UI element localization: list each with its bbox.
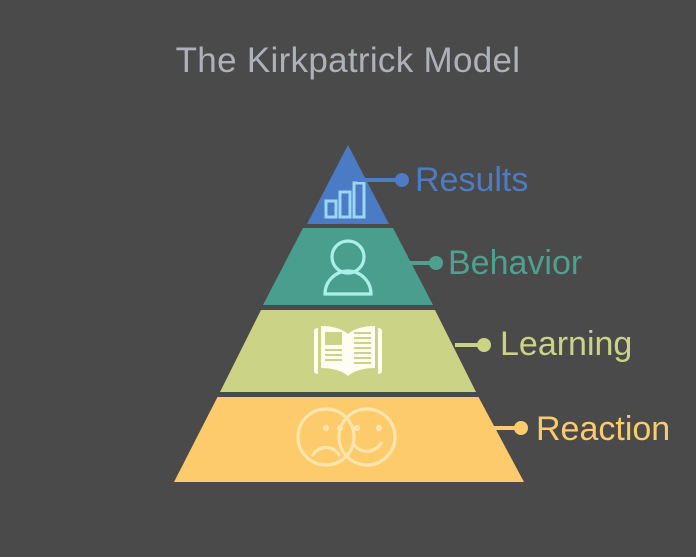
tier-shape-reaction [174, 397, 524, 482]
tier-label-learning[interactable]: Learning [500, 327, 632, 361]
pyramid-tier-behavior[interactable] [263, 228, 443, 305]
kirkpatrick-model-infographic: The Kirkpatrick Model [0, 0, 696, 557]
pyramid-tier-results[interactable] [307, 145, 409, 224]
pyramid-tier-learning[interactable] [220, 310, 491, 392]
tier-shape-results [307, 145, 389, 224]
pyramid-tier-reaction[interactable] [174, 397, 528, 482]
tier-label-results[interactable]: Results [415, 163, 528, 197]
tier-label-reaction[interactable]: Reaction [536, 412, 670, 446]
connector-behavior [409, 256, 443, 270]
pyramid-diagram [0, 0, 696, 557]
connector-reaction [493, 421, 528, 435]
tier-label-behavior[interactable]: Behavior [448, 246, 582, 280]
connector-learning [455, 338, 491, 352]
